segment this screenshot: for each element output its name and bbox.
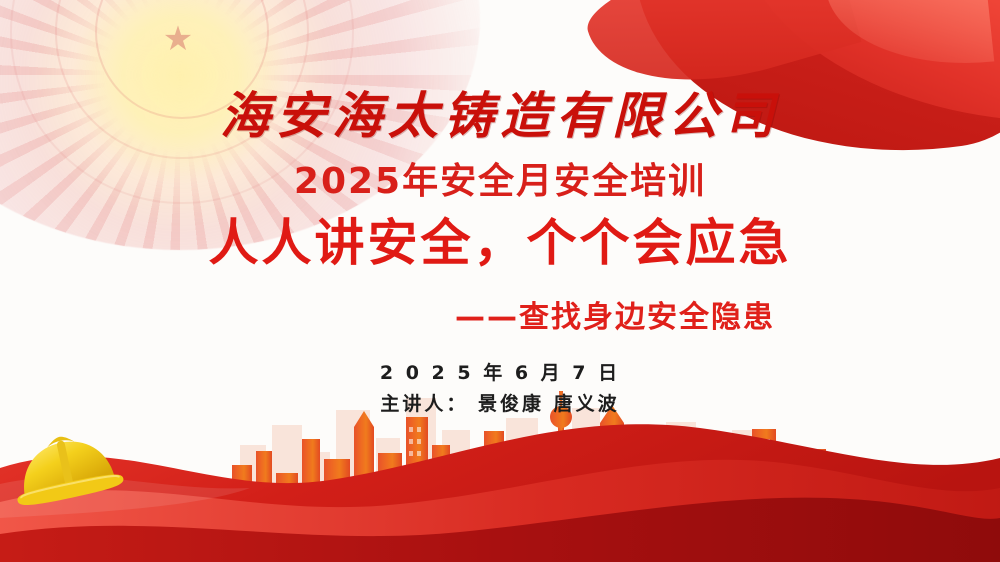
slogan-text: 人人讲安全，个个会应急: [0, 203, 1000, 275]
training-subtitle: 2025年安全月安全培训: [0, 152, 1000, 204]
tagline-text: ——查找身边安全隐患: [0, 292, 1000, 336]
speaker-text: 主讲人： 景俊康 唐义波: [0, 389, 1000, 416]
star-icon: ★: [160, 22, 196, 58]
company-title: 海安海太铸造有限公司: [0, 76, 1000, 148]
safety-helmet-icon: [8, 428, 128, 514]
date-text: 2 0 2 5 年 6 月 7 日: [0, 358, 1000, 385]
slide-canvas: ★: [0, 0, 1000, 562]
